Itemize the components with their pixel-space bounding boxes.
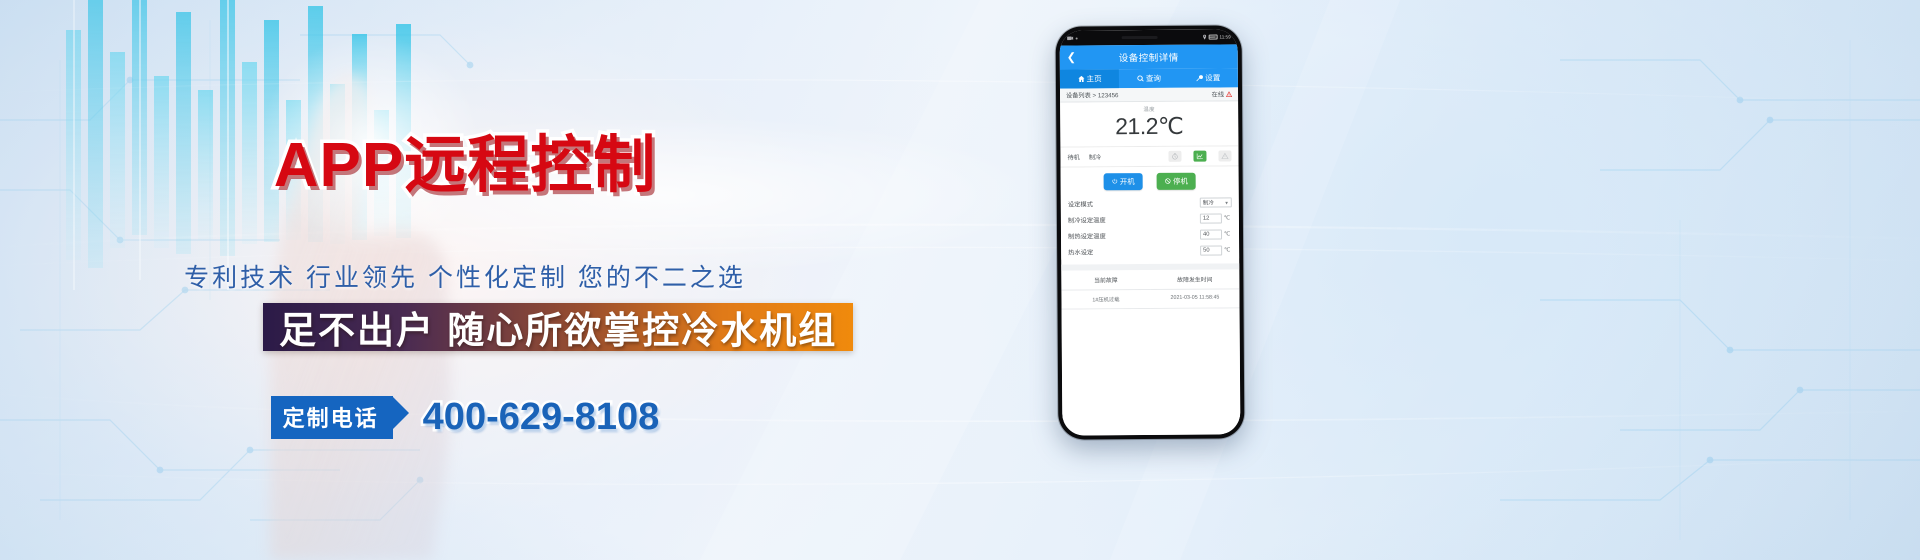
banner-subtitle: 专利技术 行业领先 个性化定制 您的不二之选 [0, 258, 930, 294]
tab-settings-label: 设置 [1205, 73, 1220, 84]
phone-navbar: ❮ 设备控制详情 [1060, 44, 1238, 69]
device-status-row: 待机 制冷 [1060, 147, 1238, 168]
status-time: 11:59 [1219, 34, 1230, 39]
chart-icon [1196, 153, 1203, 160]
status-left [1067, 36, 1078, 41]
banner-content: APP远程控制 专利技术 行业领先 个性化定制 您的不二之选 足不出户 随心所欲… [0, 0, 960, 560]
timer-icon-button[interactable] [1168, 151, 1181, 162]
power-action-row: 开机 停机 [1061, 167, 1239, 196]
phone-page-title: 设备控制详情 [1060, 49, 1238, 64]
contact-row: 定制电话 400-629-8108 [0, 396, 930, 439]
tab-query[interactable]: 查询 [1119, 69, 1178, 88]
stop-icon [1165, 178, 1171, 184]
heat-temp-input[interactable]: 40 [1200, 230, 1222, 240]
alarm-icon-button[interactable] [1218, 151, 1231, 162]
phone-speaker-notch [1122, 36, 1158, 39]
power-off-button[interactable]: 停机 [1157, 173, 1196, 190]
status-dot [1076, 37, 1078, 39]
cool-temp-unit: ℃ [1224, 216, 1232, 222]
camera-icon [1067, 36, 1074, 41]
wrench-icon [1196, 75, 1203, 82]
device-mode: 制冷 [1089, 152, 1101, 161]
mode-select[interactable]: 制冷 ▼ [1200, 198, 1232, 208]
temperature-card: 温度 21.2℃ [1060, 101, 1238, 147]
breadcrumb-path[interactable]: 设备列表 > 123456 [1066, 90, 1119, 99]
hotwater-unit: ℃ [1224, 248, 1232, 254]
breadcrumb: 设备列表 > 123456 在线 [1060, 87, 1238, 102]
warning-triangle-icon [1226, 91, 1232, 97]
tab-settings[interactable]: 设置 [1179, 68, 1238, 87]
mode-select-value: 制冷 [1203, 199, 1214, 207]
home-icon [1077, 75, 1084, 82]
tab-home-label: 主页 [1086, 73, 1101, 84]
chevron-down-icon: ▼ [1224, 200, 1229, 205]
device-state: 待机 [1067, 153, 1079, 162]
tel-label-badge: 定制电话 [271, 396, 393, 439]
phone-mockup: 11:59 ❮ 设备控制详情 主页 查询 设置 [1056, 25, 1245, 439]
power-on-label: 开机 [1120, 176, 1135, 187]
power-off-label: 停机 [1173, 176, 1188, 187]
banner-ribbon-text: 足不出户 随心所欲掌控冷水机组 [279, 300, 837, 354]
fault-header-current: 当前故障 [1061, 270, 1150, 291]
fault-table-header: 当前故障 故障发生时间 [1061, 270, 1239, 291]
tel-number[interactable]: 400-629-8108 [423, 396, 660, 439]
settings-list: 设定模式 制冷 ▼ 制冷设定温度 12 ℃ [1061, 195, 1239, 260]
timer-icon [1171, 153, 1178, 160]
setting-row-cool-temp: 制冷设定温度 12 ℃ [1068, 211, 1232, 228]
phone-screen: 11:59 ❮ 设备控制详情 主页 查询 设置 [1060, 29, 1241, 435]
table-row[interactable]: 1#压机过载 2021-03-05 11:58:45 [1061, 290, 1239, 310]
setting-row-hotwater: 热水设定 50 ℃ [1068, 243, 1232, 260]
power-icon [1111, 179, 1117, 185]
fault-cell-time: 2021-03-05 11:58:45 [1150, 290, 1239, 310]
tab-home[interactable]: 主页 [1060, 69, 1119, 88]
battery-icon [1208, 35, 1217, 40]
banner-stage: APP远程控制 专利技术 行业领先 个性化定制 您的不二之选 足不出户 随心所欲… [0, 0, 1920, 560]
setting-row-heat-temp: 制热设定温度 40 ℃ [1068, 227, 1232, 244]
power-on-button[interactable]: 开机 [1103, 173, 1142, 190]
search-icon [1137, 75, 1144, 82]
setting-control-heat-temp: 40 ℃ [1200, 230, 1232, 240]
setting-label-heat-temp: 制热设定温度 [1068, 230, 1200, 240]
phone-content-filler [1062, 309, 1241, 436]
setting-row-mode: 设定模式 制冷 ▼ [1068, 195, 1232, 212]
online-status-label: 在线 [1212, 89, 1224, 98]
temperature-value: 21.2℃ [1060, 112, 1238, 140]
status-badge: 在线 [1212, 89, 1232, 98]
phone-tabbar: 主页 查询 设置 [1060, 68, 1238, 88]
chart-icon-button[interactable] [1193, 151, 1206, 162]
setting-label-mode: 设定模式 [1068, 198, 1200, 208]
fault-header-time: 故障发生时间 [1150, 270, 1239, 291]
banner-ribbon: 足不出户 随心所欲掌控冷水机组 [263, 303, 853, 351]
heat-temp-unit: ℃ [1224, 232, 1232, 238]
phone-status-bar: 11:59 [1060, 29, 1238, 45]
page-title: APP远程控制 [0, 133, 930, 198]
fault-cell-name: 1#压机过载 [1061, 290, 1150, 310]
setting-control-mode: 制冷 ▼ [1200, 198, 1232, 208]
status-right: 11:59 [1202, 34, 1230, 39]
setting-label-cool-temp: 制冷设定温度 [1068, 214, 1200, 224]
chevron-left-icon[interactable]: ❮ [1067, 52, 1077, 63]
setting-control-hotwater: 50 ℃ [1200, 246, 1232, 256]
cool-temp-input[interactable]: 12 [1200, 214, 1222, 224]
setting-label-hotwater: 热水设定 [1068, 246, 1200, 256]
fault-table: 当前故障 故障发生时间 1#压机过载 2021-03-05 11:58:45 [1061, 264, 1239, 310]
hotwater-input[interactable]: 50 [1200, 246, 1222, 256]
alarm-triangle-icon [1221, 153, 1228, 160]
location-icon [1202, 35, 1206, 40]
tab-query-label: 查询 [1146, 73, 1161, 84]
setting-control-cool-temp: 12 ℃ [1200, 214, 1232, 224]
